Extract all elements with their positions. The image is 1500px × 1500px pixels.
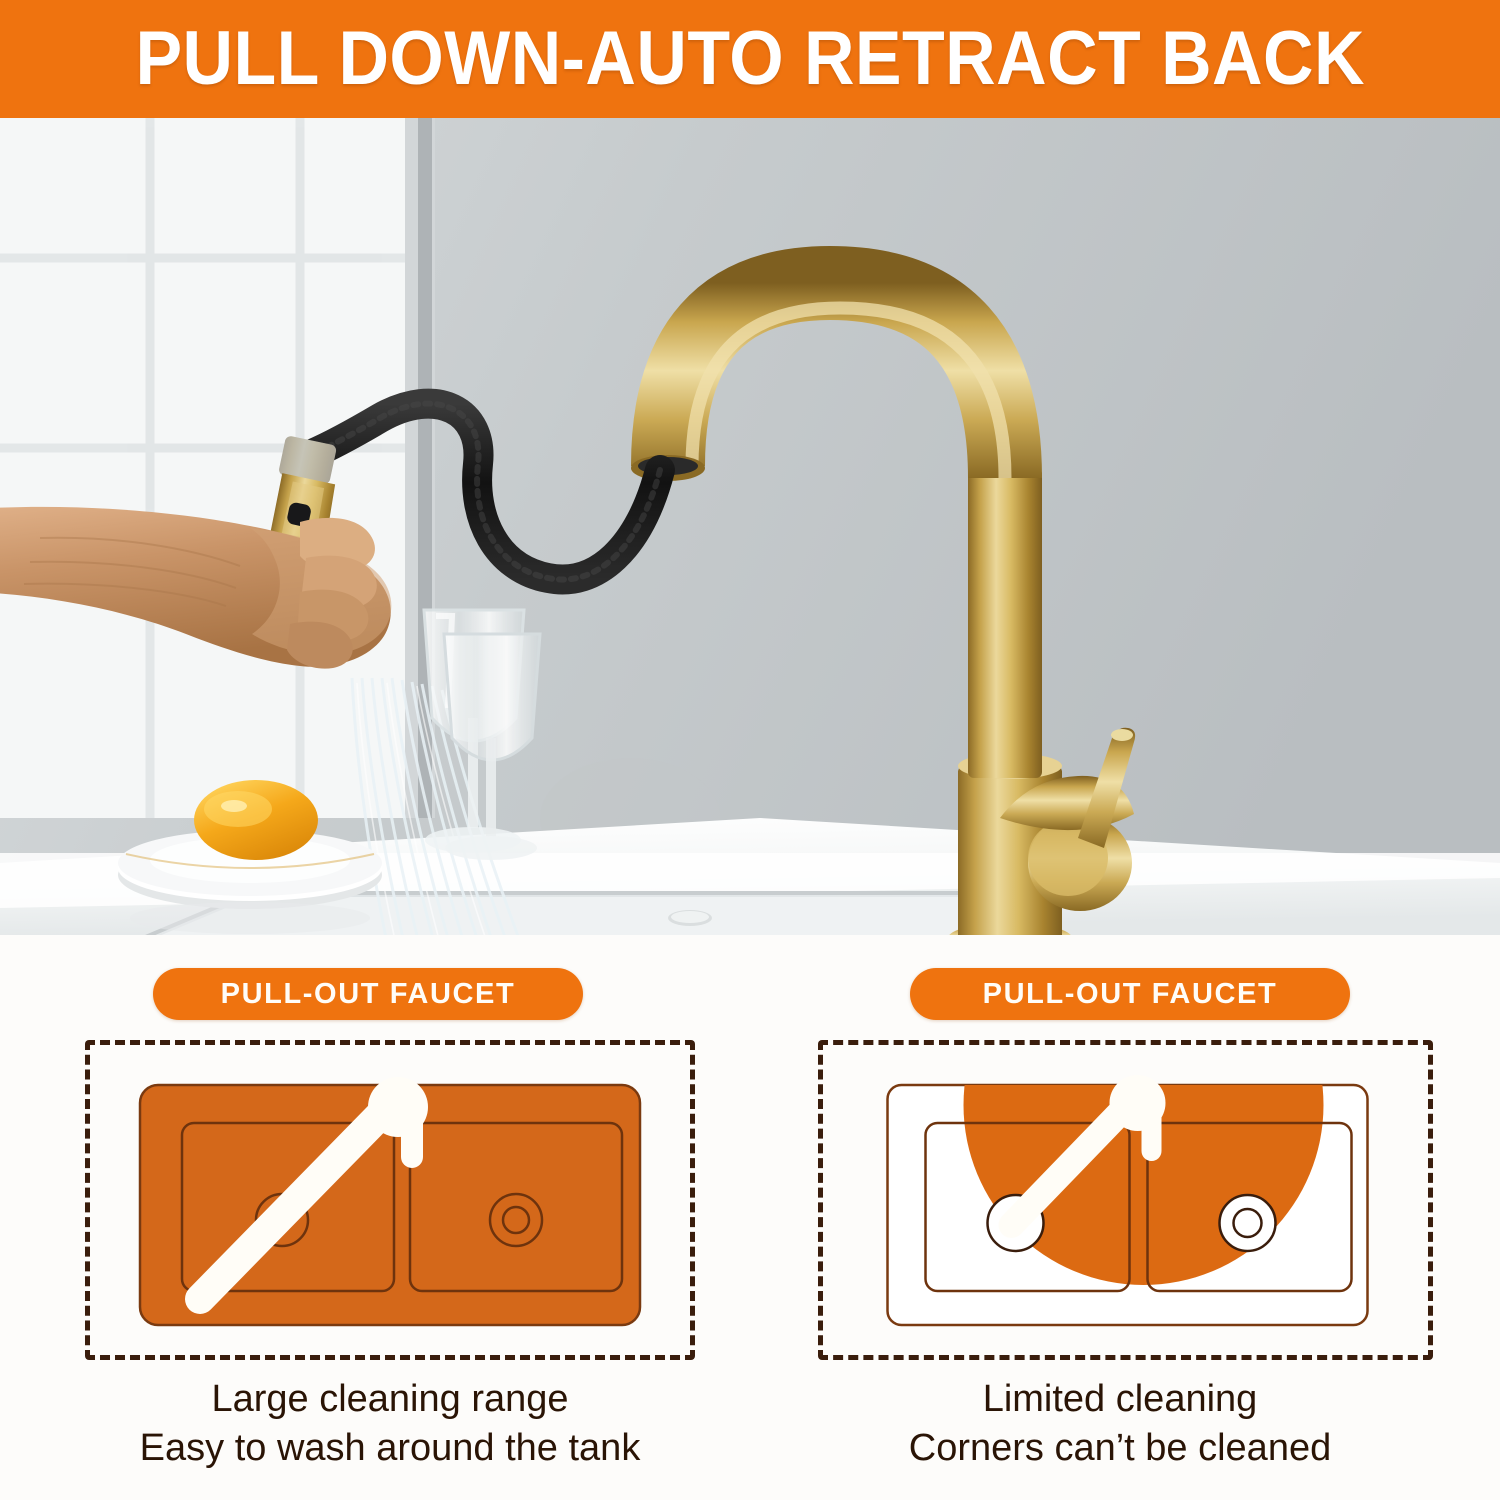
- badge-label: PULL-OUT FAUCET: [983, 978, 1278, 1011]
- comparison-section: PULL-OUT FAUCET: [0, 935, 1500, 1500]
- caption-line-2: Easy to wash around the tank: [40, 1424, 740, 1473]
- badge-pull-out-faucet-left: PULL-OUT FAUCET: [153, 968, 583, 1020]
- infographic-page: PULL DOWN-AUTO RETRACT BACK: [0, 0, 1500, 1500]
- badge-pull-out-faucet-right: PULL-OUT FAUCET: [910, 968, 1350, 1020]
- diagram-box-large-range: [85, 1040, 695, 1360]
- comparison-panel-large-range: PULL-OUT FAUCET: [40, 935, 740, 1500]
- caption-limited-range: Limited cleaning Corners can’t be cleane…: [770, 1375, 1470, 1472]
- page-title: PULL DOWN-AUTO RETRACT BACK: [135, 21, 1364, 97]
- product-photo: [0, 118, 1500, 935]
- sink-coverage-diagram-full: [90, 1045, 690, 1355]
- badge-label: PULL-OUT FAUCET: [221, 978, 516, 1011]
- product-photo-illustration: [0, 118, 1500, 935]
- caption-line-2: Corners can’t be cleaned: [770, 1424, 1470, 1473]
- header-banner: PULL DOWN-AUTO RETRACT BACK: [0, 0, 1500, 118]
- sink-coverage-diagram-partial: [823, 1045, 1428, 1355]
- diagram-box-limited-range: [818, 1040, 1433, 1360]
- caption-line-1: Large cleaning range: [40, 1375, 740, 1424]
- caption-line-1: Limited cleaning: [770, 1375, 1470, 1424]
- caption-large-range: Large cleaning range Easy to wash around…: [40, 1375, 740, 1472]
- comparison-panel-limited-range: PULL-OUT FAUCET: [770, 935, 1470, 1500]
